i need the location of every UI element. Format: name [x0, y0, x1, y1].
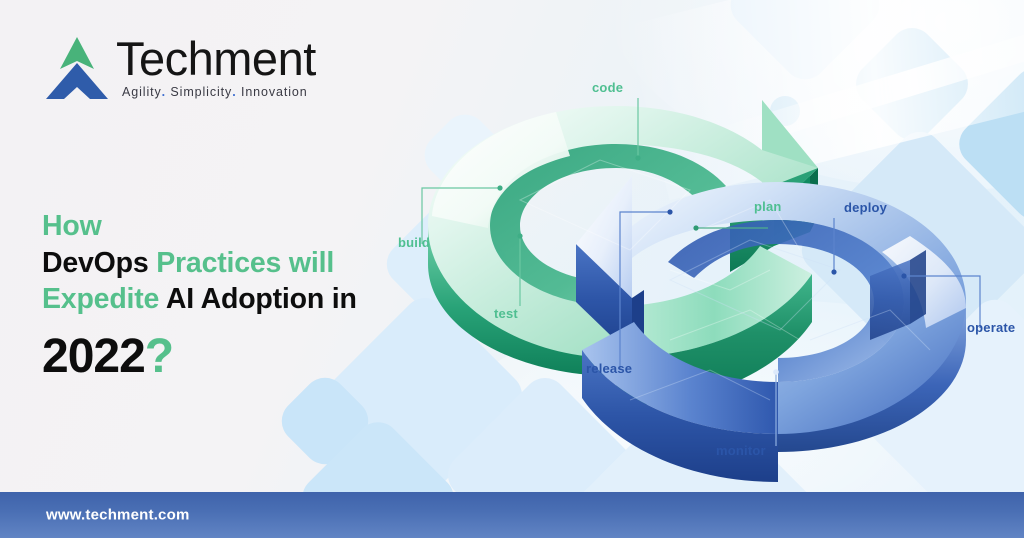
label-build: build	[398, 235, 430, 250]
headline-ai-adoption: AI Adoption in	[166, 283, 357, 315]
loop-artwork	[370, 40, 1024, 490]
devops-infinity-loop-diagram: code plan build test deploy operate rele…	[370, 40, 1024, 490]
website-url[interactable]: www.techment.com	[46, 507, 190, 524]
label-test: test	[494, 306, 518, 321]
tagline-dot: .	[232, 85, 236, 99]
label-monitor: monitor	[716, 443, 766, 458]
headline-devops: DevOps	[42, 247, 156, 279]
headline-expedite: Expedite	[42, 283, 166, 315]
techment-chevron-logo-icon	[46, 35, 108, 101]
headline-year-number: 2022	[42, 330, 145, 383]
label-release: release	[586, 361, 632, 376]
logo[interactable]: Techment Agility. Simplicity. Innovation	[46, 33, 346, 108]
label-deploy: deploy	[844, 200, 887, 215]
label-code: code	[592, 80, 623, 95]
tagline-word-3: Innovation	[241, 85, 308, 99]
headline-question-mark: ?	[145, 330, 173, 383]
headline-how: How	[42, 210, 102, 242]
label-plan: plan	[754, 199, 782, 214]
footer-bar: www.techment.com	[0, 492, 1024, 538]
tagline-dot: .	[162, 85, 166, 99]
logo-tagline: Agility. Simplicity. Innovation	[122, 85, 308, 99]
deco-rhombus	[273, 369, 378, 474]
logo-wordmark: Techment	[116, 31, 316, 86]
banner-canvas: Techment Agility. Simplicity. Innovation…	[0, 0, 1024, 538]
tagline-word-2: Simplicity	[170, 85, 232, 99]
label-operate: operate	[967, 320, 1015, 335]
tagline-word-1: Agility	[122, 85, 162, 99]
headline-practices-will: Practices will	[156, 247, 334, 279]
